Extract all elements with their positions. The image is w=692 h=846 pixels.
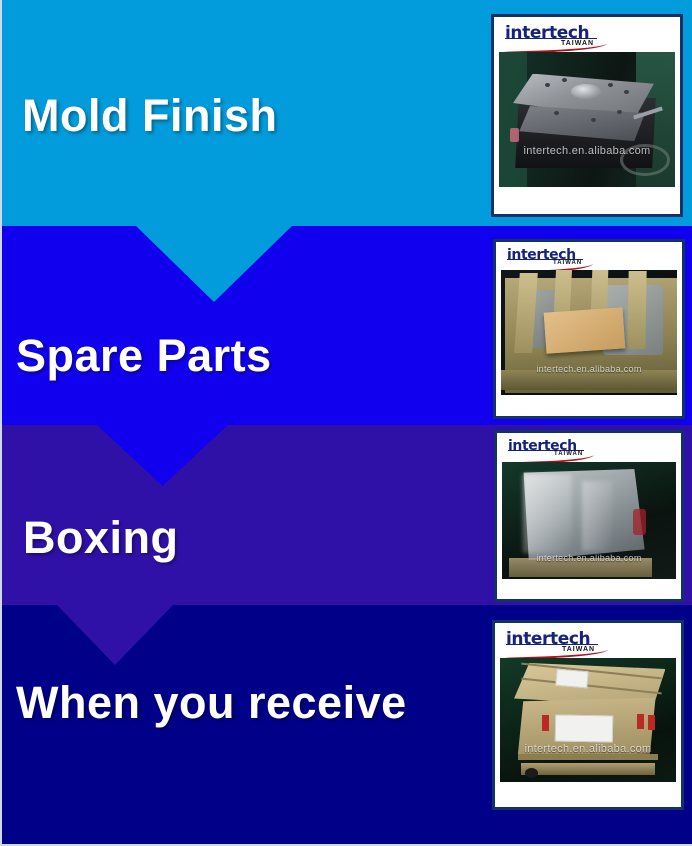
scene-shrink-wrapped-mold xyxy=(502,462,676,579)
brand-underline xyxy=(505,38,597,39)
photo-image-3: intertech.en.alibaba.com xyxy=(502,462,676,579)
photo-frame-2: intertech TAIWAN intertech.en.alibaba.co… xyxy=(501,247,677,411)
photo-frame-4: intertech TAIWAN intertech.en.alibaba.co… xyxy=(500,628,676,802)
infographic-canvas: Mold Finish Spare Parts Boxing When you … xyxy=(0,0,692,846)
scene-spare-parts-crate xyxy=(501,270,677,395)
photo-footer-strip-3 xyxy=(502,579,676,594)
intertech-logo-1: intertech TAIWAN xyxy=(499,22,675,52)
brand-underline xyxy=(506,644,598,645)
photo-footer-strip-4 xyxy=(500,782,676,802)
brand-country-label: TAIWAN xyxy=(562,646,595,653)
photo-image-4: intertech.en.alibaba.com xyxy=(500,658,676,782)
brand-country-label: TAIWAN xyxy=(554,451,583,457)
intertech-logo-4: intertech TAIWAN xyxy=(500,628,676,658)
intertech-logo-2: intertech TAIWAN xyxy=(501,247,677,270)
step-title-4: When you receive xyxy=(16,680,407,725)
photo-frame-1: intertech TAIWAN xyxy=(499,22,675,209)
scene-wooden-shipping-crate xyxy=(500,658,676,782)
step-photo-card-2: intertech TAIWAN intertech.en.alibaba.co… xyxy=(493,239,685,419)
step-title-1: Mold Finish xyxy=(22,93,277,138)
step-photo-card-1: intertech TAIWAN xyxy=(491,14,683,217)
step-title-2: Spare Parts xyxy=(16,333,272,378)
photo-image-2: intertech.en.alibaba.com xyxy=(501,270,677,395)
step-photo-card-4: intertech TAIWAN intertech.en.alibaba.co… xyxy=(492,620,684,810)
photo-footer-strip-2 xyxy=(501,395,677,411)
intertech-logo-3: intertech TAIWAN xyxy=(502,438,676,462)
step-photo-card-3: intertech TAIWAN intertech.en.alibaba.co… xyxy=(494,430,684,602)
scene-mold-on-machine xyxy=(499,52,675,187)
brand-country-label: TAIWAN xyxy=(553,260,582,266)
step-title-3: Boxing xyxy=(23,515,179,560)
photo-image-1: intertech.en.alibaba.com xyxy=(499,52,675,187)
brand-country-label: TAIWAN xyxy=(561,40,594,47)
photo-frame-3: intertech TAIWAN intertech.en.alibaba.co… xyxy=(502,438,676,594)
photo-footer-strip-1 xyxy=(499,187,675,209)
